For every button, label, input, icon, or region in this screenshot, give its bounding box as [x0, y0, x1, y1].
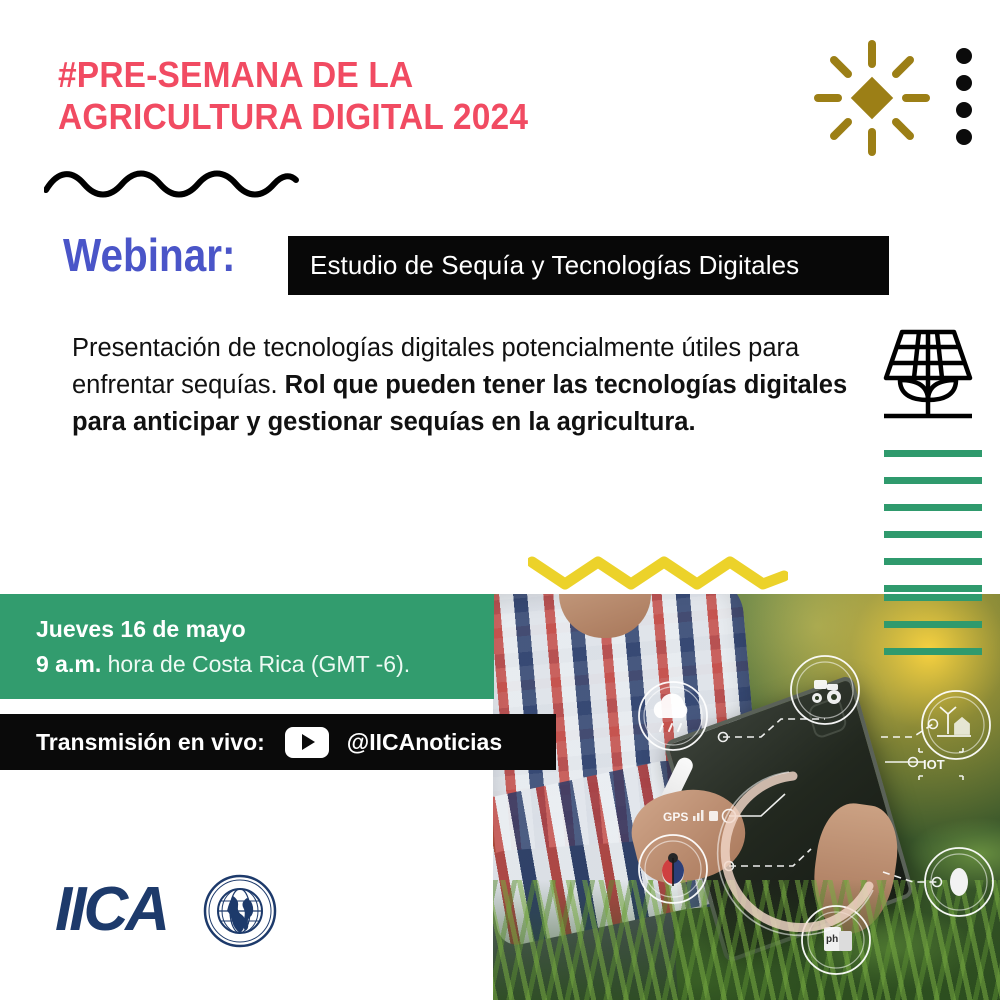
schedule-time: 9 a.m. — [36, 651, 101, 677]
stripe — [884, 477, 982, 484]
svg-text:IOT: IOT — [923, 757, 945, 772]
solar-panel-plant-icon — [876, 326, 980, 424]
stripe — [884, 531, 982, 538]
play-triangle-icon — [302, 734, 315, 750]
broadcast-bar: Transmisión en vivo: @IICAnoticias — [0, 714, 556, 770]
webinar-title: Estudio de Sequía y Tecnologías Digitale… — [288, 250, 799, 281]
stripe — [884, 621, 982, 628]
wavy-line-icon — [44, 168, 300, 200]
sun-icon — [812, 38, 932, 158]
dot — [956, 102, 972, 118]
stripe — [884, 585, 982, 592]
iica-wordmark: IICA — [55, 874, 167, 945]
headline-line-1: #PRE-SEMANA DE LA — [58, 54, 579, 96]
tractor-icon — [791, 656, 859, 724]
broadcast-label: Transmisión en vivo: — [36, 729, 265, 756]
ladybug-pest-icon — [639, 835, 707, 903]
zigzag-icon — [528, 548, 788, 594]
schedule-timezone: hora de Costa Rica (GMT -6). — [101, 651, 410, 677]
dot — [956, 48, 972, 64]
stripe — [884, 504, 982, 511]
stripe — [884, 558, 982, 565]
page-title: #PRE-SEMANA DE LA AGRICULTURA DIGITAL 20… — [58, 54, 579, 139]
dot — [956, 129, 972, 145]
svg-text:ph: ph — [826, 934, 838, 945]
four-dots-icon — [956, 48, 976, 144]
dot — [956, 75, 972, 91]
stripe — [884, 648, 982, 655]
schedule-date: Jueves 16 de mayo — [36, 616, 246, 643]
stripe — [884, 450, 982, 457]
schedule-block: Jueves 16 de mayo 9 a.m. hora de Costa R… — [0, 594, 494, 699]
gps-icon: GPS — [663, 810, 718, 824]
cloud-rain-icon — [639, 682, 707, 750]
description-paragraph: Presentación de tecnologías digitales po… — [72, 330, 862, 442]
webinar-label: Webinar: — [63, 232, 235, 278]
globe-seal-icon — [203, 874, 277, 948]
broadcast-handle[interactable]: @IICAnoticias — [347, 729, 502, 756]
iica-logo[interactable]: IICA — [55, 868, 285, 948]
youtube-icon[interactable] — [285, 727, 329, 758]
svg-text:GPS: GPS — [663, 810, 688, 824]
green-stripes-lower — [884, 594, 982, 675]
webinar-title-bar: Estudio de Sequía y Tecnologías Digitale… — [288, 236, 889, 295]
stripe — [884, 594, 982, 601]
poster-canvas: #PRE-SEMANA DE LA AGRICULTURA DIGITAL 20… — [0, 0, 1000, 1000]
headline-line-2: AGRICULTURA DIGITAL 2024 — [58, 96, 579, 138]
schedule-time-row: 9 a.m. hora de Costa Rica (GMT -6). — [36, 651, 410, 678]
